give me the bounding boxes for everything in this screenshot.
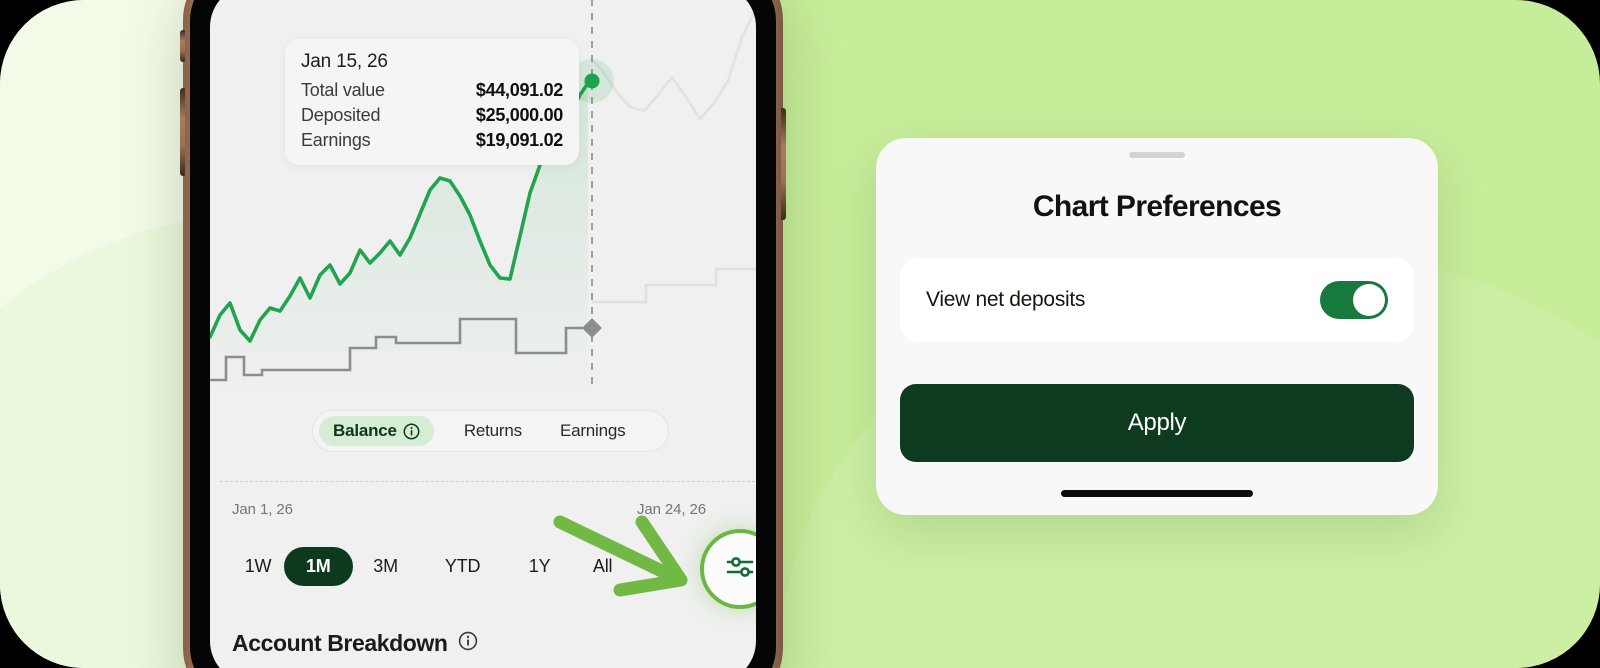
phone-device: Jan 15, 26 Total value $44,091.02 Deposi… (183, 0, 783, 668)
tab-balance[interactable]: Balance (319, 416, 434, 446)
tooltip-date: Jan 15, 26 (301, 51, 563, 73)
tooltip-label: Earnings (301, 130, 370, 151)
balance-chart[interactable]: Jan 15, 26 Total value $44,091.02 Deposi… (210, 0, 756, 397)
chart-settings-button[interactable] (700, 529, 756, 609)
volume-up-button[interactable] (180, 30, 185, 62)
chart-metric-tabs: Balance Returns Earnings (312, 410, 669, 452)
tooltip-row-deposited: Deposited $25,000.00 (301, 105, 563, 126)
sheet-drag-handle[interactable] (1129, 152, 1185, 158)
chart-tooltip: Jan 15, 26 Total value $44,091.02 Deposi… (285, 39, 579, 165)
sliders-icon (725, 554, 755, 585)
tooltip-value: $19,091.02 (476, 130, 563, 151)
power-button[interactable] (781, 108, 786, 220)
time-range-selector: 1W 1M 3M YTD 1Y All (232, 547, 633, 586)
phone-screen: Jan 15, 26 Total value $44,091.02 Deposi… (210, 0, 756, 668)
range-1w[interactable]: 1W (232, 547, 284, 586)
toggle-knob (1353, 284, 1385, 316)
total-value-cursor-dot (585, 74, 600, 89)
range-3m[interactable]: 3M (353, 547, 419, 586)
apply-button[interactable]: Apply (900, 384, 1414, 462)
home-indicator (1061, 490, 1253, 497)
axis-start-date: Jan 1, 26 (232, 501, 293, 518)
info-circle-icon[interactable] (403, 423, 420, 440)
account-breakdown-section[interactable]: Account Breakdown (232, 630, 478, 657)
tooltip-value: $44,091.02 (476, 80, 563, 101)
account-breakdown-title: Account Breakdown (232, 630, 448, 657)
tooltip-value: $25,000.00 (476, 105, 563, 126)
tab-balance-label: Balance (333, 421, 397, 441)
sheet-title: Chart Preferences (876, 190, 1438, 224)
tab-returns[interactable]: Returns (454, 416, 532, 446)
tooltip-label: Deposited (301, 105, 380, 126)
tab-earnings[interactable]: Earnings (550, 416, 636, 446)
screenshot-canvas: Jan 15, 26 Total value $44,091.02 Deposi… (0, 0, 1600, 668)
tooltip-row-earnings: Earnings $19,091.02 (301, 130, 563, 151)
tab-returns-label: Returns (464, 421, 522, 441)
range-all[interactable]: All (573, 547, 633, 586)
preference-row-net-deposits[interactable]: View net deposits (900, 258, 1414, 342)
net-deposits-toggle[interactable] (1320, 281, 1388, 319)
info-circle-icon[interactable] (458, 631, 478, 656)
axis-end-date: Jan 24, 26 (637, 501, 706, 518)
range-ytd[interactable]: YTD (419, 547, 507, 586)
volume-down-button[interactable] (180, 88, 185, 176)
tooltip-label: Total value (301, 80, 385, 101)
section-divider (220, 481, 756, 482)
chart-preferences-sheet: Chart Preferences View net deposits Appl… (876, 138, 1438, 515)
preference-label: View net deposits (926, 288, 1085, 312)
phone-bezel: Jan 15, 26 Total value $44,091.02 Deposi… (190, 0, 776, 668)
range-1m[interactable]: 1M (284, 547, 353, 586)
tooltip-row-total-value: Total value $44,091.02 (301, 80, 563, 101)
range-1y[interactable]: 1Y (507, 547, 573, 586)
tab-earnings-label: Earnings (560, 421, 626, 441)
